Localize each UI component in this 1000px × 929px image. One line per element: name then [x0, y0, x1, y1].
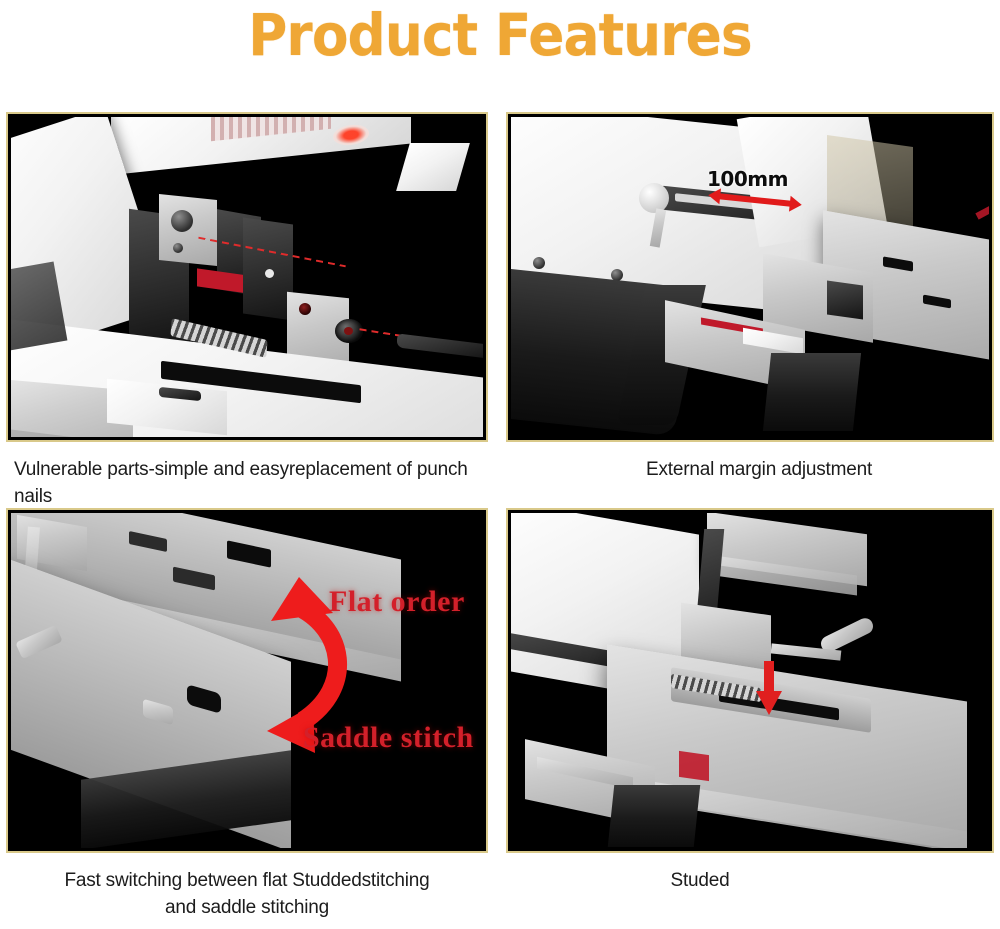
- arrow-head: [756, 691, 782, 715]
- photo-canvas-2: 100mm: [511, 117, 989, 437]
- feature-image-external-margin: 100mm: [506, 112, 994, 442]
- feature-caption-2-line1: External margin adjustment: [646, 459, 872, 480]
- cover-right-flap: [396, 143, 470, 191]
- punch-nail-core: [344, 327, 353, 335]
- feature-caption-3: Fast switching between flat Studdedstitc…: [6, 867, 488, 921]
- flat-order-label: Flat order: [329, 585, 465, 619]
- nail-rod: [397, 333, 483, 358]
- arrow-shaft: [764, 661, 774, 695]
- photo-canvas-4: [511, 513, 989, 848]
- feature-caption-3-line1: Fast switching between flat Studdedstitc…: [6, 867, 488, 894]
- feature-image-studed: [506, 508, 994, 853]
- hex-screw-icon: [171, 210, 193, 232]
- feature-caption-2: External margin adjustment: [506, 456, 994, 483]
- panel-screw-icon-1: [533, 257, 545, 269]
- feature-caption-1: Vulnerable parts-simple and easyreplacem…: [6, 456, 488, 510]
- machine-base-right: [763, 353, 861, 431]
- photo-canvas-1: [11, 117, 483, 437]
- guide-screw-icon: [265, 269, 274, 278]
- punch-nail-hole: [299, 303, 311, 315]
- feature-cell-vulnerable-parts: Vulnerable parts-simple and easyreplacem…: [6, 112, 488, 510]
- feature-caption-4: Studed: [506, 867, 994, 894]
- feature-caption-3-line2: and saddle stitching: [6, 894, 488, 921]
- photo-canvas-3: Flat order Saddle stitch: [11, 513, 483, 848]
- machine-leg: [608, 785, 701, 847]
- feature-image-flat-saddle: Flat order Saddle stitch: [6, 508, 488, 853]
- feature-cell-flat-saddle: Flat order Saddle stitch Fast switching …: [6, 508, 488, 921]
- margin-adjust-knob: [639, 183, 669, 213]
- feature-caption-1-line1: Vulnerable parts-simple and easyreplacem…: [14, 459, 468, 507]
- feature-cell-studed: Studed: [506, 508, 994, 894]
- feature-caption-4-line1: Studed: [670, 870, 729, 891]
- red-tray-edge: [975, 197, 989, 219]
- saddle-stitch-label: Saddle stitch: [303, 721, 474, 755]
- feature-cell-external-margin: 100mm External margin adjustment: [506, 112, 994, 483]
- small-screw-icon: [173, 243, 183, 253]
- red-inner-part: [679, 751, 709, 781]
- feature-image-vulnerable-parts: [6, 112, 488, 442]
- features-grid: Vulnerable parts-simple and easyreplacem…: [0, 0, 1000, 929]
- stitch-head-clamp: [827, 280, 863, 319]
